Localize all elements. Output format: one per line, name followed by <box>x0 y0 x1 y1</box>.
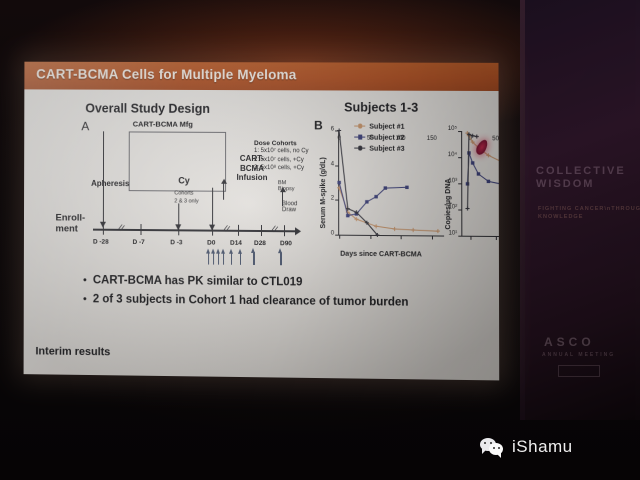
section-title-subjects: Subjects 1-3 <box>344 100 418 114</box>
bullet-text: CART-BCMA has PK similar to CTL019 <box>93 274 303 290</box>
apheresis-arrow <box>103 131 105 222</box>
projected-slide: CART-BCMA Cells for Multiple Myeloma Ove… <box>24 62 500 381</box>
panel-a-letter: A <box>81 119 89 133</box>
banner-line-2: WISDOM <box>524 178 640 190</box>
slide-title-bar: CART-BCMA Cells for Multiple Myeloma <box>24 62 498 91</box>
legend-item: Subject #1 <box>354 123 404 131</box>
axis-break: // <box>270 224 278 235</box>
y-tick-label: 10⁵ <box>446 126 457 132</box>
legend-marker-subject-1 <box>354 123 365 131</box>
blood-draw-mark <box>253 252 255 265</box>
blood-draw-mark <box>213 253 214 265</box>
blood-draw-arrow <box>282 192 283 206</box>
infusion-arrow <box>212 188 213 226</box>
timeline-tick <box>261 225 262 236</box>
wechat-icon <box>480 438 506 456</box>
watermark-label: iShamu <box>512 437 573 457</box>
blood-draw-arrow-group <box>206 252 302 266</box>
timeline-axis <box>93 229 296 232</box>
banner-tagline: FIGHTING CANCER\nTHROUGH KNOWLEDGE <box>524 205 640 221</box>
legend-label: Subject #1 <box>369 123 404 130</box>
legend-item: Subject #3 <box>354 145 404 153</box>
y-tick-label: 0 <box>320 230 334 236</box>
chart-xlabel: Days since CART-BCMA <box>340 251 422 259</box>
y-tick-label: 6 <box>320 126 334 132</box>
label-apheresis: Apheresis <box>91 179 129 188</box>
timeline-label: D90 <box>280 240 292 247</box>
timeline-label: D0 <box>207 240 215 247</box>
y-tick-label: 4 <box>320 161 334 167</box>
timeline-label: D14 <box>230 240 242 247</box>
label-cart-bcma-mfg: CART-BCMA Mfg <box>133 120 193 129</box>
bullet-text: 2 of 3 subjects in Cohort 1 had clearanc… <box>93 293 409 310</box>
panel-b-charts: B Serum M-spike (g/dL) Copies/µg DNA Day… <box>310 116 492 266</box>
bm-biopsy-arrow <box>223 184 224 200</box>
label-cy: Cy <box>178 176 189 186</box>
blood-draw-mark <box>218 253 219 265</box>
list-item: •2 of 3 subjects in Cohort 1 had clearan… <box>83 293 484 311</box>
bullet-dot-icon: • <box>83 293 93 306</box>
axis-break: // <box>222 223 230 234</box>
list-item: •CART-BCMA has PK similar to CTL019 <box>83 274 484 292</box>
venue-wall-banner: COLLECTIVE WISDOM FIGHTING CANCER\nTHROU… <box>520 0 640 420</box>
banner-decor-box <box>558 365 600 377</box>
timeline-label: D -28 <box>93 239 109 246</box>
legend-item: Subject #2 <box>354 134 404 142</box>
blood-draw-mark <box>208 253 209 265</box>
slide-body: Overall Study Design Subjects 1-3 A CART… <box>24 89 500 380</box>
bullet-list: •CART-BCMA has PK similar to CTL019 •2 o… <box>83 274 484 315</box>
legend-label: Subject #3 <box>369 145 404 152</box>
panel-a-study-design: A CART-BCMA Mfg Apheresis Cy Cohorts 2 &… <box>57 117 304 258</box>
cy-arrow <box>178 203 179 225</box>
slide-footer-text: Interim results <box>35 345 110 358</box>
chart-legend: Subject #1 Subject #2 Subject #3 <box>354 123 404 156</box>
bullet-dot-icon: • <box>83 274 93 287</box>
page-title: CART-BCMA Cells for Multiple Myeloma <box>36 67 296 83</box>
timeline-label: D28 <box>254 240 266 247</box>
asco-logo-text: ASCO <box>524 335 640 349</box>
legend-marker-subject-3 <box>354 145 365 153</box>
y-tick-label: 10² <box>446 204 457 210</box>
auditorium-photo: COLLECTIVE WISDOM FIGHTING CANCER\nTHROU… <box>0 0 640 480</box>
y-tick-label: 10³ <box>446 178 457 184</box>
label-blood-draw: Blood Draw <box>282 201 304 213</box>
banner-line-1: COLLECTIVE <box>524 165 640 177</box>
axis-break: // <box>117 222 125 233</box>
blood-draw-mark <box>223 253 224 265</box>
legend-label: Subject #2 <box>369 134 404 141</box>
timeline-tick <box>284 225 285 236</box>
timeline-label: D -7 <box>133 239 145 246</box>
label-enrollment: Enroll- ment <box>55 212 95 234</box>
asco-annual-meeting-text: ANNUAL MEETING <box>524 352 640 358</box>
timeline-label: D -3 <box>170 239 182 246</box>
timeline-tick <box>141 224 142 235</box>
watermark: iShamu <box>480 437 573 457</box>
y-tick-label: 10¹ <box>446 231 457 237</box>
legend-marker-subject-2 <box>354 134 365 142</box>
timeline-tick <box>238 225 239 236</box>
y-tick-label: 2 <box>320 195 334 201</box>
chart-left-ylabel: Serum M-spike (g/dL) <box>320 157 327 228</box>
y-tick-label: 10⁴ <box>446 152 457 158</box>
blood-draw-mark <box>231 253 232 265</box>
blood-draw-mark <box>280 252 282 265</box>
blood-draw-mark <box>240 253 241 265</box>
section-title-study-design: Overall Study Design <box>85 101 210 115</box>
